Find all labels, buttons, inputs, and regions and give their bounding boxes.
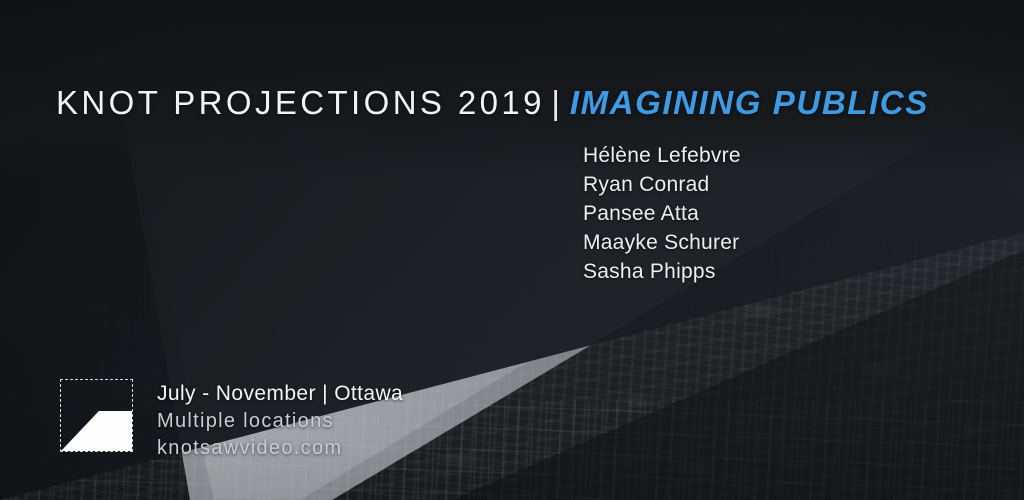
artist-list: Hélène Lefebvre Ryan Conrad Pansee Atta …	[583, 142, 741, 286]
list-item: Hélène Lefebvre	[583, 142, 741, 171]
logo-trapezoid-shape	[61, 411, 132, 451]
poster-footer: July - November | Ottawa Multiple locati…	[60, 379, 403, 461]
list-item: Ryan Conrad	[583, 171, 741, 200]
event-venue: Multiple locations	[157, 408, 403, 435]
poster-headline: KNOT PROJECTIONS 2019 | IMAGINING PUBLIC…	[56, 86, 929, 119]
footer-details: July - November | Ottawa Multiple locati…	[157, 380, 403, 461]
poster-content: KNOT PROJECTIONS 2019 | IMAGINING PUBLIC…	[0, 0, 1024, 500]
knot-logo-icon	[60, 379, 133, 452]
event-website[interactable]: knotsawvideo.com	[157, 435, 403, 462]
headline-accent-title: IMAGINING PUBLICS	[570, 84, 929, 121]
event-dates-and-city: July - November | Ottawa	[157, 380, 403, 408]
headline-main-title: KNOT PROJECTIONS 2019	[56, 84, 545, 121]
list-item: Sasha Phipps	[583, 258, 741, 287]
poster-banner: KNOT PROJECTIONS 2019 | IMAGINING PUBLIC…	[0, 0, 1024, 500]
list-item: Pansee Atta	[583, 200, 741, 229]
list-item: Maayke Schurer	[583, 229, 741, 258]
headline-separator: |	[549, 84, 565, 121]
